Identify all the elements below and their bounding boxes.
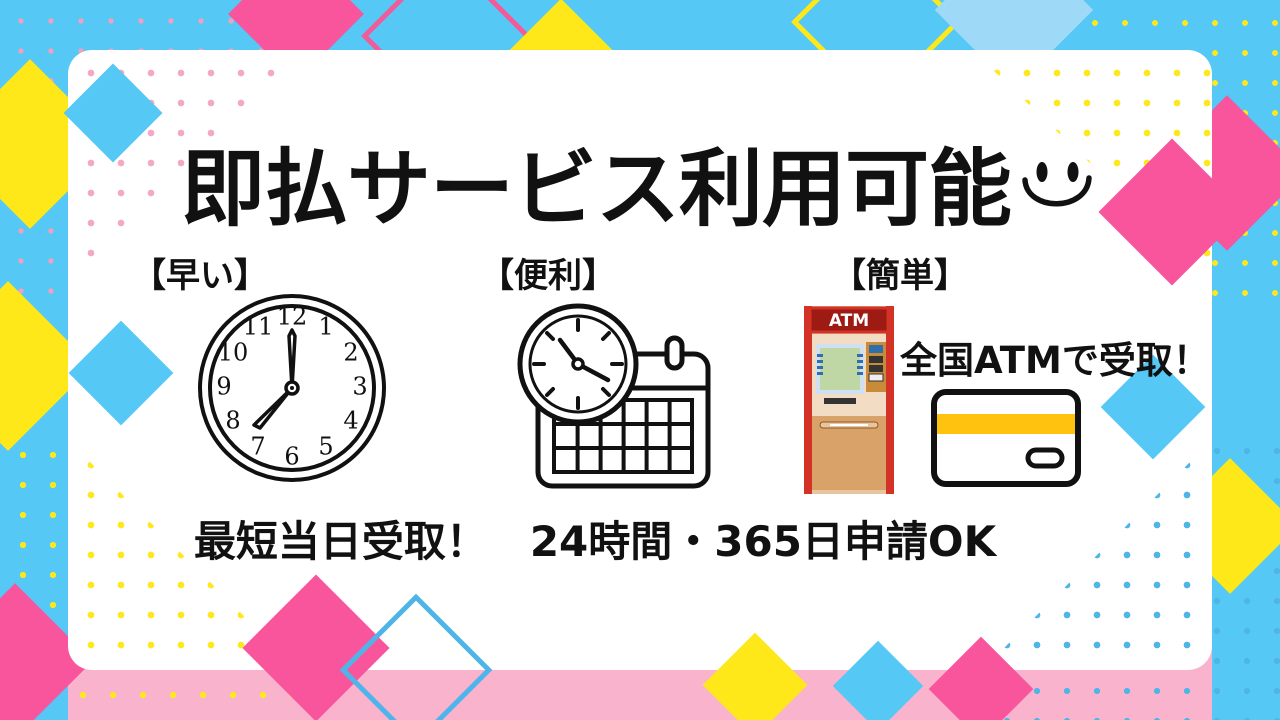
banner-canvas: 即払サービス利用可能 【早い】 【便利】 【簡単】 12 1 2 3 4 5 6… bbox=[0, 0, 1280, 720]
wall-clock-icon: 12 1 2 3 4 5 6 7 8 9 10 11 bbox=[196, 288, 388, 488]
svg-text:6: 6 bbox=[284, 443, 299, 471]
svg-text:2: 2 bbox=[343, 339, 358, 367]
svg-text:10: 10 bbox=[218, 339, 249, 367]
atm-sign-label: ATM bbox=[829, 311, 869, 331]
page-title-text: 即払サービス利用可能 bbox=[181, 140, 1011, 238]
svg-text:3: 3 bbox=[352, 373, 367, 401]
svg-text:4: 4 bbox=[343, 407, 358, 435]
svg-text:1: 1 bbox=[318, 313, 333, 341]
svg-text:9: 9 bbox=[216, 373, 231, 401]
atm-machine-icon: ATM bbox=[800, 302, 898, 498]
calendar-clock-icon bbox=[512, 296, 732, 496]
bottom-tagline: 最短当日受取！ 24時間・365日申請OK bbox=[0, 508, 1190, 569]
atm-caption: 全国ATMで受取！ bbox=[900, 330, 1210, 384]
svg-text:8: 8 bbox=[225, 407, 240, 435]
bank-card-icon bbox=[930, 388, 1082, 488]
svg-text:7: 7 bbox=[250, 433, 265, 461]
page-title: 即払サービス利用可能 bbox=[0, 122, 1280, 244]
svg-text:5: 5 bbox=[318, 433, 333, 461]
svg-text:12: 12 bbox=[277, 303, 308, 331]
segment-label-convenient: 【便利】 bbox=[480, 248, 616, 297]
smiley-face-icon bbox=[1015, 146, 1099, 244]
segment-label-easy: 【簡単】 bbox=[832, 248, 968, 297]
svg-text:11: 11 bbox=[243, 313, 274, 341]
